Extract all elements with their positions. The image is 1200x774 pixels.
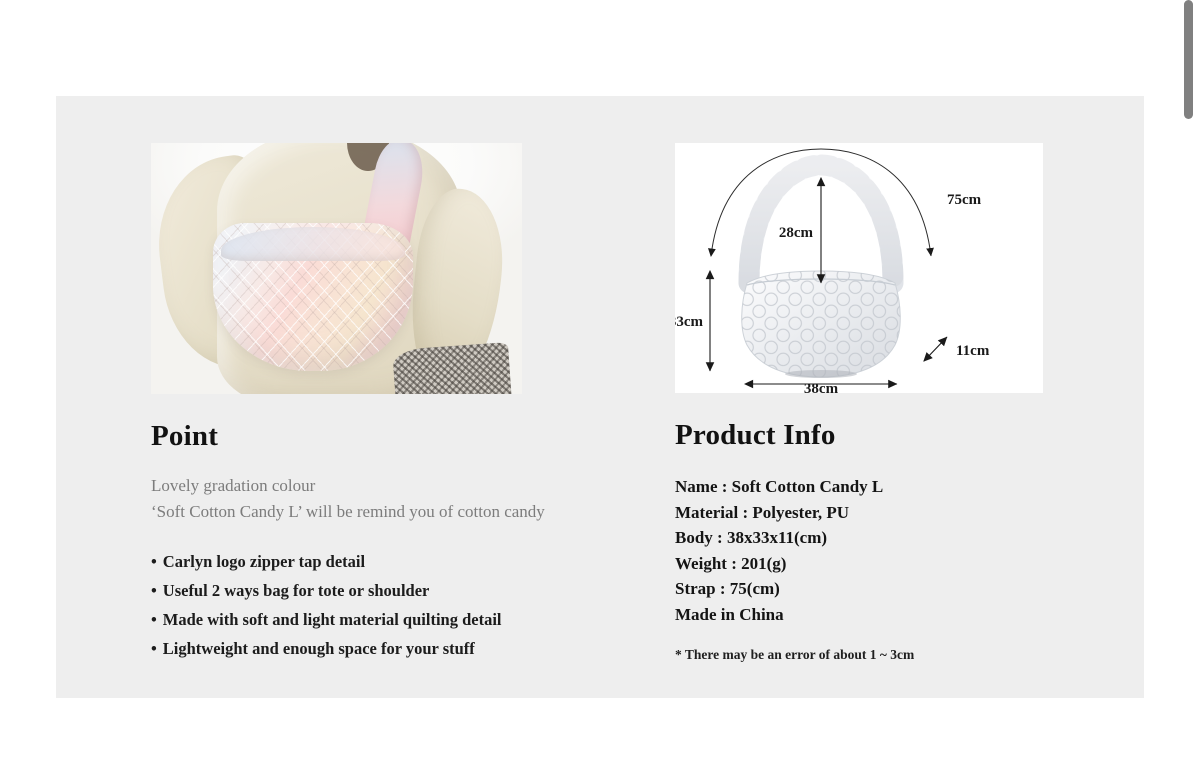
- spec-material: Material : Polyester, PU: [675, 500, 1075, 526]
- bullet-text: Carlyn logo zipper tap detail: [163, 552, 365, 571]
- strap-length-label: 75cm: [947, 192, 982, 208]
- spec-name: Name : Soft Cotton Candy L: [675, 474, 1075, 500]
- bullet-text: Useful 2 ways bag for tote or shoulder: [163, 581, 430, 600]
- product-detail-page: Point Lovely gradation colour ‘Soft Cott…: [0, 0, 1200, 774]
- product-info-column: 28cm 75cm 33cm 38cm 11cm: [675, 143, 1075, 663]
- measurement-tolerance-footnote: * There may be an error of about 1 ~ 3cm: [675, 647, 1075, 663]
- bag-dimension-diagram-image: 28cm 75cm 33cm 38cm 11cm: [675, 143, 1043, 393]
- point-subtitle-line-2: ‘Soft Cotton Candy L’ will be remind you…: [151, 499, 611, 525]
- product-photo[interactable]: [151, 143, 522, 394]
- list-item: •Carlyn logo zipper tap detail: [151, 547, 611, 576]
- bullet-dot-icon: •: [151, 610, 157, 629]
- spec-weight: Weight : 201(g): [675, 551, 1075, 577]
- point-subtitle-line-1: Lovely gradation colour: [151, 473, 611, 499]
- bullet-dot-icon: •: [151, 639, 157, 658]
- body-width-label: 38cm: [804, 381, 839, 393]
- point-subtitle: Lovely gradation colour ‘Soft Cotton Can…: [151, 473, 611, 525]
- scrollbar-thumb[interactable]: [1184, 0, 1193, 119]
- bullet-dot-icon: •: [151, 581, 157, 600]
- handle-drop-label: 28cm: [779, 225, 814, 241]
- point-heading: Point: [151, 420, 611, 453]
- product-photo-image: [151, 143, 522, 394]
- list-item: •Lightweight and enough space for your s…: [151, 634, 611, 663]
- bag-dimension-diagram[interactable]: 28cm 75cm 33cm 38cm 11cm: [675, 143, 1043, 393]
- spec-body: Body : 38x33x11(cm): [675, 525, 1075, 551]
- scrollbar-track[interactable]: [1183, 0, 1194, 774]
- product-spec-list: Name : Soft Cotton Candy L Material : Po…: [675, 474, 1075, 627]
- product-info-heading: Product Info: [675, 419, 1075, 452]
- bullet-text: Lightweight and enough space for your st…: [163, 639, 475, 658]
- spec-origin: Made in China: [675, 602, 1075, 628]
- bullet-dot-icon: •: [151, 552, 157, 571]
- bag-base-shadow: [785, 370, 857, 378]
- bag-body-quilt: [742, 271, 901, 377]
- quilted-bag-body: [213, 223, 413, 371]
- list-item: •Made with soft and light material quilt…: [151, 605, 611, 634]
- point-column: Point Lovely gradation colour ‘Soft Cott…: [151, 143, 611, 663]
- body-depth-label: 11cm: [956, 343, 990, 359]
- detail-panel: Point Lovely gradation colour ‘Soft Cott…: [56, 96, 1144, 698]
- body-height-label: 33cm: [675, 314, 704, 330]
- bullet-text: Made with soft and light material quilti…: [163, 610, 502, 629]
- list-item: •Useful 2 ways bag for tote or shoulder: [151, 576, 611, 605]
- point-bullet-list: •Carlyn logo zipper tap detail •Useful 2…: [151, 547, 611, 663]
- spec-strap: Strap : 75(cm): [675, 576, 1075, 602]
